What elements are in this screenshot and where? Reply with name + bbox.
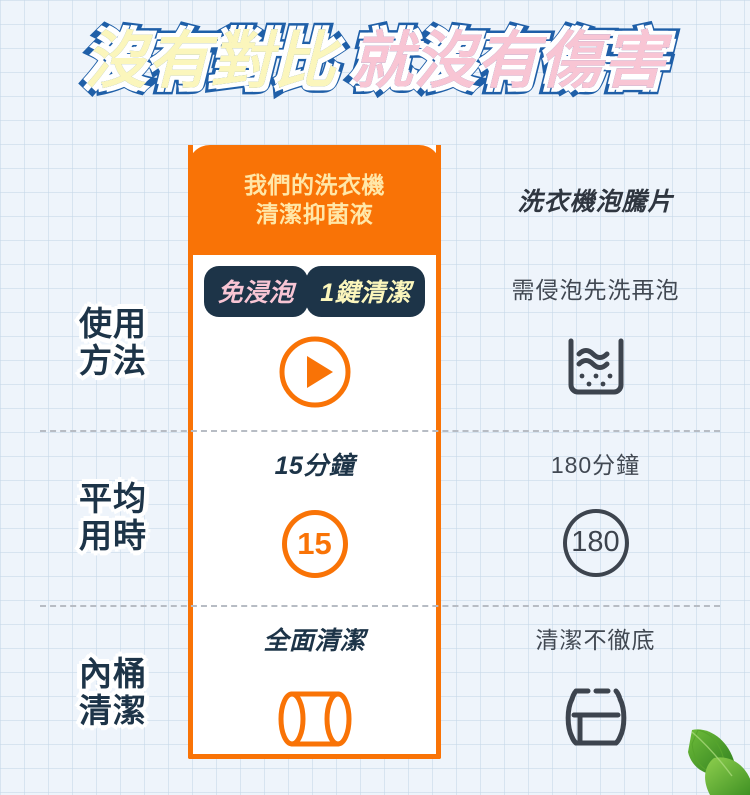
row-label-drum: 內桶 清潔: [38, 655, 188, 731]
cell-ours-drum: 全面清潔: [188, 605, 441, 780]
duration-value-theirs: 180: [563, 509, 629, 577]
title-part-a: 沒有對比: [84, 26, 336, 97]
drum-partial-icon: [554, 655, 638, 780]
duration-value-ours: 15: [282, 510, 348, 578]
page-title: 沒有對比就沒有傷害: [0, 26, 750, 97]
table-row: 平均 用時 15分鐘 15 180分鐘 180: [0, 430, 750, 605]
row-label-duration: 平均 用時: [38, 480, 188, 556]
title-part-b: 就沒有傷害: [351, 26, 666, 97]
column-header-ours: 我們的洗衣機 清潔抑菌液: [188, 145, 441, 255]
soak-basin-icon: [557, 305, 635, 430]
badge-one-click: 1鍵清潔: [309, 269, 422, 314]
play-button-icon: [277, 314, 353, 430]
comparison-table: 我們的洗衣機 清潔抑菌液 洗衣機泡騰片 使用 方法 免浸泡 1鍵清潔: [0, 145, 750, 775]
badge-no-soak: 免浸泡: [207, 269, 306, 314]
column-header-theirs: 洗衣機泡騰片: [441, 145, 750, 255]
table-row: 內桶 清潔 全面清潔 清潔不徹底: [0, 605, 750, 780]
poster-canvas: 沒有對比就沒有傷害 我們的洗衣機 清潔抑菌液 洗衣機泡騰片 使用 方法 免浸泡 …: [0, 0, 750, 795]
duration-circle-ours: 15: [282, 482, 348, 605]
cell-theirs-usage: 需侵泡先洗再泡: [441, 255, 750, 430]
duration-circle-theirs: 180: [563, 480, 629, 605]
column-header-ours-line2: 清潔抑菌液: [244, 200, 385, 229]
cell-theirs-duration: 180分鐘 180: [441, 430, 750, 605]
table-row: 使用 方法 免浸泡 1鍵清潔 需侵泡先洗再泡: [0, 255, 750, 430]
cell-ours-duration: 15分鐘 15: [188, 430, 441, 605]
usage-badges: 免浸泡 1鍵清潔: [207, 269, 422, 314]
row-divider: [40, 430, 720, 432]
cell-ours-usage: 免浸泡 1鍵清潔: [188, 255, 441, 430]
cell-theirs-drum: 清潔不徹底: [441, 605, 750, 780]
drum-clean-icon: [273, 657, 357, 780]
row-label-usage: 使用 方法: [38, 305, 188, 381]
column-header-ours-line1: 我們的洗衣機: [244, 171, 385, 200]
row-divider: [40, 605, 720, 607]
